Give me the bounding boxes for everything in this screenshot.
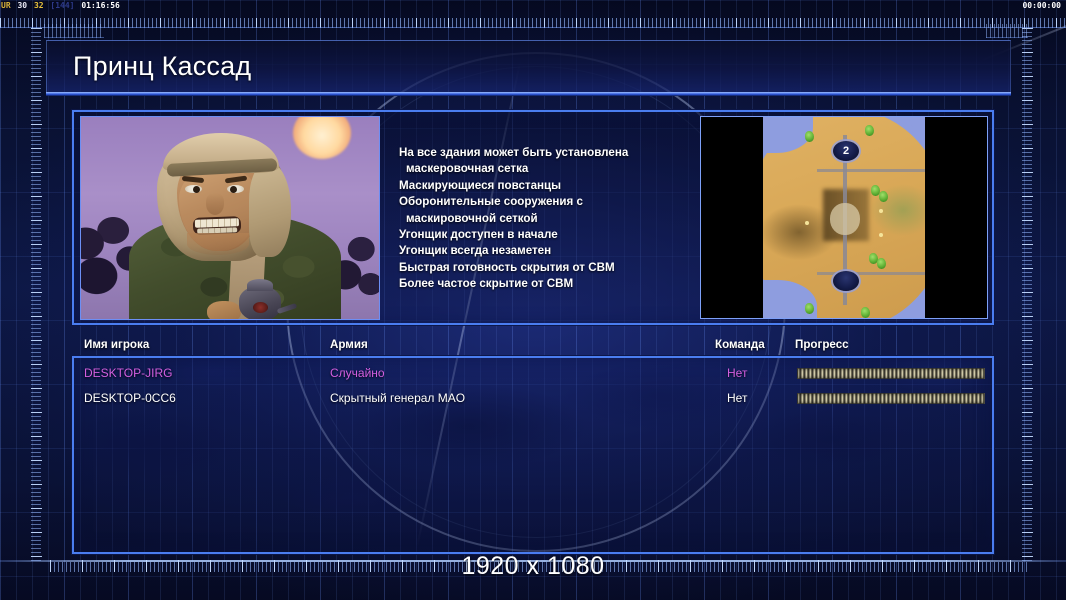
debug-value-one: 30 — [16, 1, 28, 10]
portrait-nose — [206, 193, 224, 215]
ruler-top-baseline — [0, 27, 1066, 28]
corner-bracket-top-right — [986, 24, 1028, 38]
map-terrain: 2 — [761, 117, 929, 318]
table-row[interactable]: DESKTOP-JIRG Случайно Нет — [74, 363, 992, 384]
description-line: Быстрая готовность скрытия от СВМ — [399, 260, 694, 276]
player-list-headers: Имя игрока Армия Команда Прогресс — [72, 338, 994, 356]
portrait-teapot-lid — [247, 279, 273, 291]
ruler-left-minor — [31, 28, 41, 564]
description-line: маскировочной сеткой — [399, 211, 694, 227]
map-tree-cluster — [879, 191, 888, 202]
player-progress-bar — [797, 368, 985, 379]
player-army[interactable]: Скрытный генерал MAO — [330, 391, 465, 405]
description-line: Более частое скрытие от СВМ — [399, 276, 694, 292]
general-title-panel: Принц Кассад — [46, 40, 1011, 92]
description-line: Угонщик доступен в начале — [399, 227, 694, 243]
column-header-army: Армия — [330, 338, 368, 351]
player-team[interactable]: Нет — [727, 391, 747, 405]
general-portrait — [80, 116, 380, 320]
game-lobby-screen: UR 30 32 [144] 01:16:56 00:00:00 Принц К… — [0, 0, 1066, 600]
ruler-right-minor — [1022, 28, 1032, 564]
debug-value-two: 32 — [33, 1, 45, 10]
description-line: маскеровочная сетка — [399, 161, 694, 177]
map-tree-cluster — [865, 125, 874, 136]
column-header-progress: Прогресс — [795, 338, 849, 351]
map-preview[interactable]: 2 — [700, 116, 988, 319]
map-tree-cluster — [861, 307, 870, 318]
portrait-teapot-opening — [253, 302, 268, 313]
map-center-plaza — [830, 203, 860, 235]
general-description: На все здания может быть установлена мас… — [399, 145, 694, 293]
map-letterbox-right — [925, 117, 987, 318]
player-list-panel: DESKTOP-JIRG Случайно Нет DESKTOP-0CC6 С… — [72, 356, 994, 554]
map-letterbox-left — [701, 117, 763, 318]
map-resource-dot — [879, 233, 883, 237]
map-resource-dot — [805, 221, 809, 225]
map-start-position-2[interactable]: 2 — [833, 141, 859, 161]
debug-bracket: [144] — [49, 1, 75, 10]
map-start-position-1[interactable] — [833, 271, 859, 291]
portrait-hand — [207, 301, 241, 320]
map-tree-cluster — [877, 258, 886, 269]
general-info-panel: На все здания может быть установлена мас… — [72, 110, 994, 325]
portrait-headwrap-side — [249, 163, 291, 257]
debug-overlay: UR 30 32 [144] 01:16:56 — [0, 0, 1066, 12]
portrait-chin-shadow — [187, 233, 249, 255]
player-army[interactable]: Случайно — [330, 366, 385, 380]
map-tree-cluster — [805, 131, 814, 142]
map-tree-cluster — [805, 303, 814, 314]
corner-bracket-top-left — [44, 24, 104, 38]
debug-right-timer: 00:00:00 — [1022, 0, 1061, 12]
description-line: Угонщик всегда незаметен — [399, 243, 694, 259]
portrait-pupil-right — [230, 186, 237, 193]
player-name[interactable]: DESKTOP-0CC6 — [84, 391, 176, 405]
column-header-player-name: Имя игрока — [84, 338, 149, 351]
table-row[interactable]: DESKTOP-0CC6 Скрытный генерал MAO Нет — [74, 388, 992, 409]
ruler-left-major — [31, 28, 42, 564]
player-progress-bar — [797, 393, 985, 404]
portrait-pupil-left — [193, 186, 200, 193]
map-road-horizontal-north — [817, 169, 929, 172]
ruler-right-major — [1022, 28, 1033, 564]
debug-label: UR — [0, 1, 12, 10]
player-team[interactable]: Нет — [727, 366, 747, 380]
map-resource-dot — [879, 209, 883, 213]
description-line: Оборонительные сооружения с — [399, 194, 694, 210]
map-road-horizontal-south — [817, 272, 929, 275]
description-line: Маскирующиеся повстанцы — [399, 178, 694, 194]
debug-timer: 01:16:56 — [80, 1, 121, 10]
portrait-teeth-upper — [195, 218, 239, 228]
page-title: Принц Кассад — [73, 51, 251, 82]
column-header-team: Команда — [715, 338, 765, 351]
player-name[interactable]: DESKTOP-JIRG — [84, 366, 172, 380]
description-line: На все здания может быть установлена — [399, 145, 694, 161]
resolution-caption: 1920 x 1080 — [0, 552, 1066, 581]
